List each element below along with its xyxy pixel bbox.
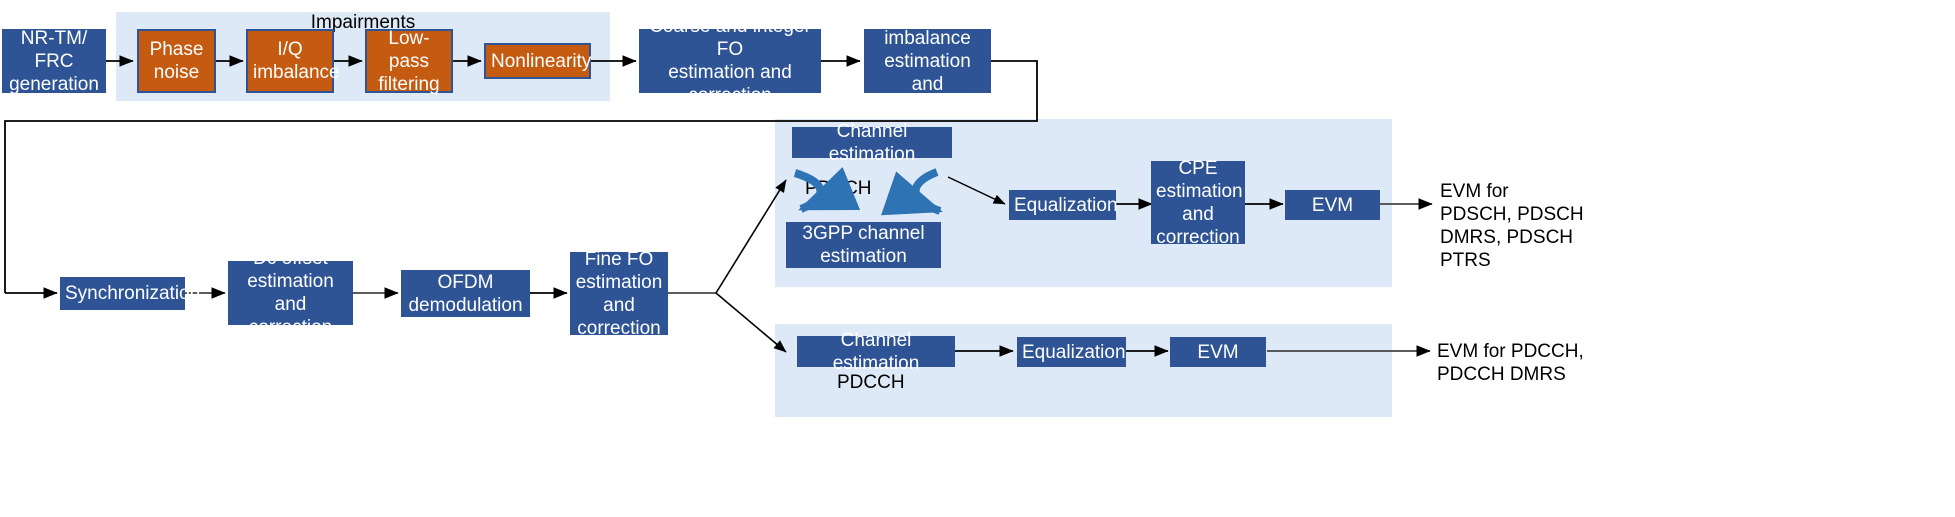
box-label: OFDM demodulation	[406, 271, 525, 317]
box-ofdm-demodulation[interactable]: OFDM demodulation	[401, 270, 530, 317]
box-dc-offset-estimation-correction[interactable]: Dc offset estimation and correction	[228, 261, 353, 325]
box-synchronization[interactable]: Synchronization	[60, 277, 185, 310]
box-label: Channel estimation	[802, 329, 950, 375]
box-iq-imbalance-estimation-correction[interactable]: I/Q imbalance estimation and correction	[864, 29, 991, 93]
box-label: Equalization	[1014, 194, 1111, 217]
box-coarse-integer-fo-estimation-correction[interactable]: Coarse and integer FO estimation and cor…	[639, 29, 821, 93]
pdsch-panel-label: PDSCH	[805, 178, 925, 200]
box-label: I/Q imbalance estimation and correction	[869, 4, 986, 119]
box-label: CPE estimation and correction	[1156, 157, 1240, 249]
box-label: EVM	[1175, 341, 1261, 364]
output-label-pdcch-evm: EVM for PDCCH, PDCCH DMRS	[1437, 340, 1737, 386]
box-low-pass-filtering[interactable]: Low-pass filtering	[365, 29, 453, 93]
box-label: Fine FO estimation and correction	[575, 248, 663, 340]
box-pdcch-evm[interactable]: EVM	[1170, 337, 1266, 367]
box-nrtm-frc-generation[interactable]: NR-TM/ FRC generation	[2, 29, 106, 93]
signal-processing-flow-diagram: Impairments PDSCH PDCCH	[0, 0, 1955, 517]
box-pdsch-channel-estimation[interactable]: Channel estimation	[792, 127, 952, 158]
box-label: Low-pass filtering	[372, 27, 446, 96]
box-pdcch-channel-estimation[interactable]: Channel estimation	[797, 336, 955, 367]
box-label: Channel estimation	[797, 120, 947, 166]
box-label: Nonlinearity	[491, 50, 584, 73]
box-label: Dc offset estimation and correction	[233, 247, 348, 339]
box-label: Synchronization	[65, 282, 180, 305]
box-label: Coarse and integer FO estimation and cor…	[644, 15, 816, 107]
box-pdsch-3gpp-channel-estimation[interactable]: 3GPP channel estimation	[786, 222, 941, 268]
pdcch-panel-label: PDCCH	[837, 372, 957, 394]
box-label: NR-TM/ FRC generation	[7, 27, 101, 96]
box-label: EVM	[1290, 194, 1375, 217]
box-pdsch-cpe-estimation-correction[interactable]: CPE estimation and correction	[1151, 161, 1245, 244]
box-nonlinearity[interactable]: Nonlinearity	[484, 43, 591, 79]
box-iq-imbalance[interactable]: I/Q imbalance	[246, 29, 334, 93]
box-pdsch-equalization[interactable]: Equalization	[1009, 190, 1116, 220]
output-label-pdsch-evm: EVM for PDSCH, PDSCH DMRS, PDSCH PTRS	[1440, 180, 1740, 272]
box-pdsch-evm[interactable]: EVM	[1285, 190, 1380, 220]
box-phase-noise[interactable]: Phase noise	[137, 29, 216, 93]
box-label: 3GPP channel estimation	[791, 222, 936, 268]
box-fine-fo-estimation-correction[interactable]: Fine FO estimation and correction	[570, 252, 668, 335]
box-label: I/Q imbalance	[253, 38, 327, 84]
box-label: Equalization	[1022, 341, 1121, 364]
box-label: Phase noise	[144, 38, 209, 84]
box-pdcch-equalization[interactable]: Equalization	[1017, 337, 1126, 367]
